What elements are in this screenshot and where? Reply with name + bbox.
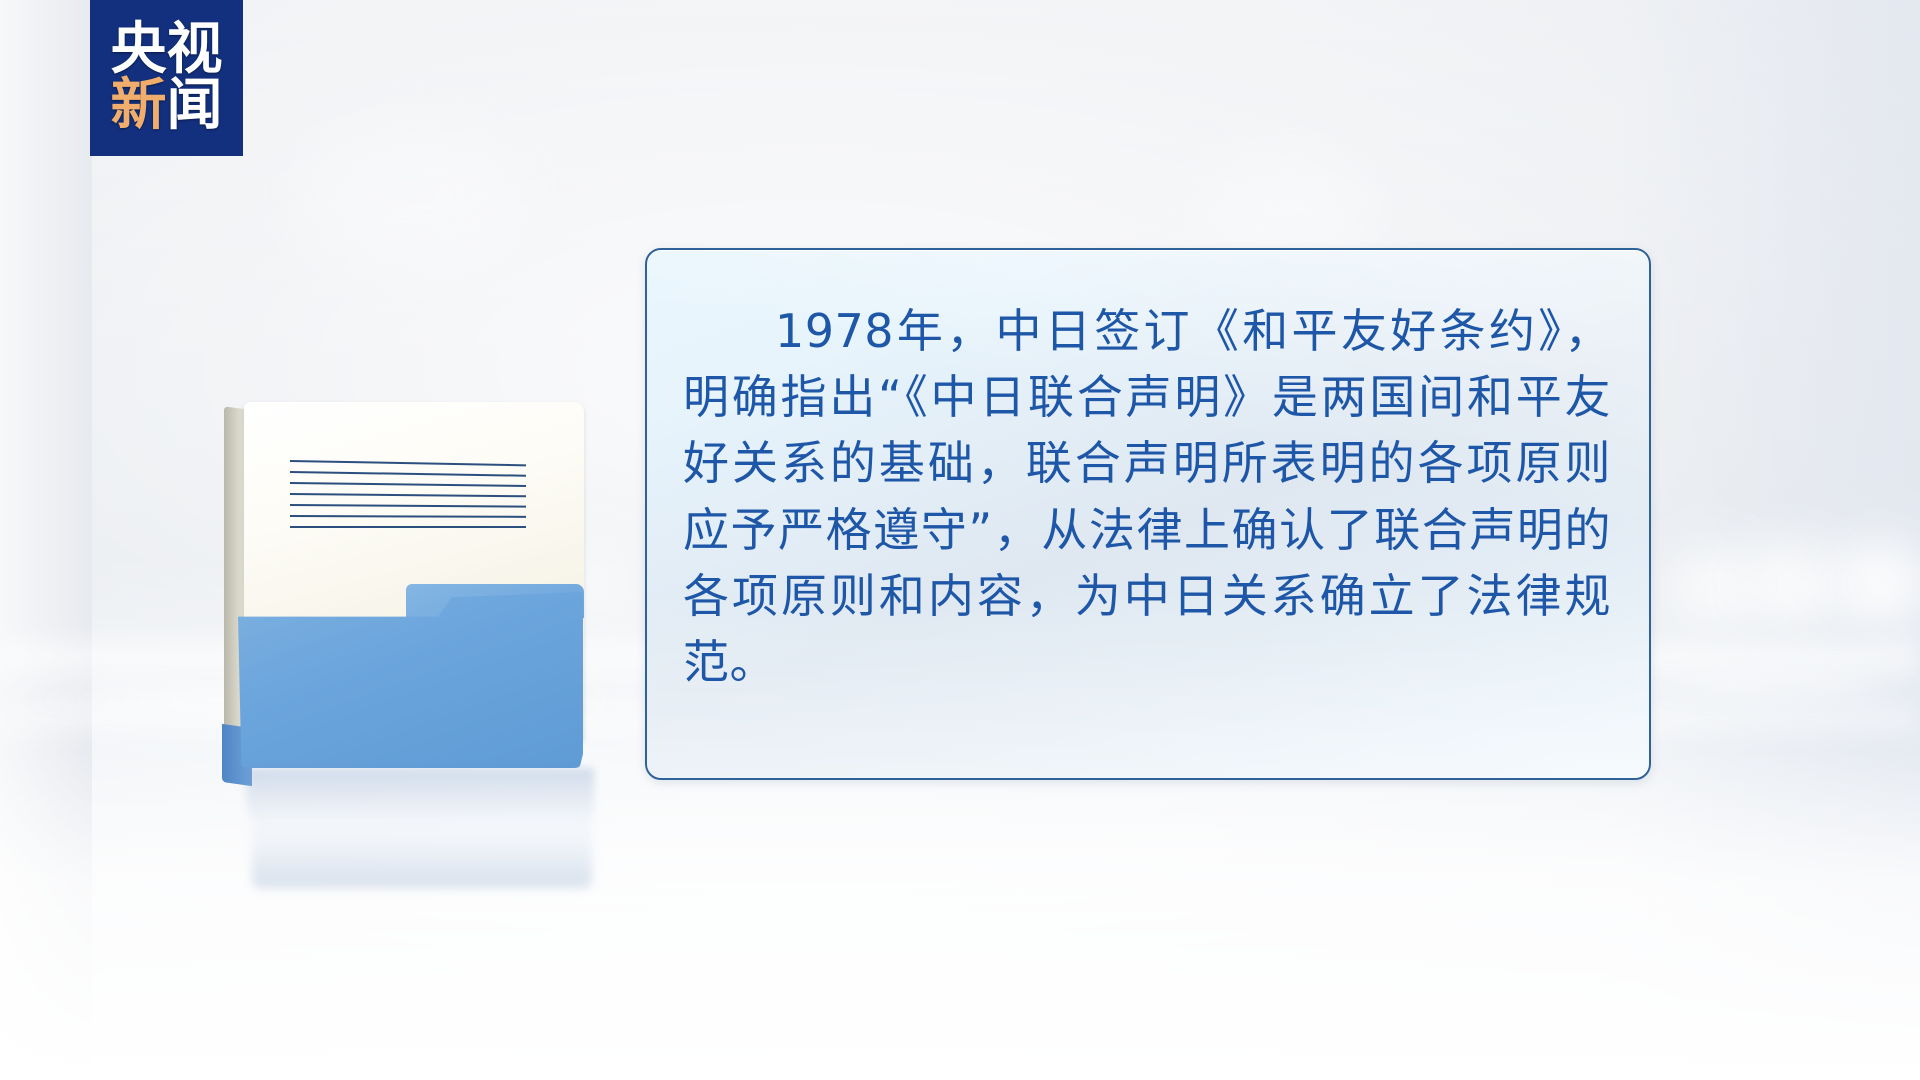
broadcast-stage: 央 视 新 闻 1	[0, 0, 1920, 1080]
folder-pocket	[238, 592, 583, 768]
logo-char-shi: 视	[167, 22, 223, 78]
rule-line	[290, 504, 526, 508]
cctv-news-logo: 央 视 新 闻	[90, 0, 243, 156]
caption-body: 1978年，中日签订《和平友好条约》，明确指出“《中日联合声明》是两国间和平友好…	[647, 250, 1649, 695]
caption-card: 1978年，中日签订《和平友好条约》，明确指出“《中日联合声明》是两国间和平友好…	[645, 248, 1651, 780]
bokeh-light	[1832, 540, 1920, 626]
rule-line	[290, 482, 526, 487]
folder-reflection-fade	[252, 768, 592, 888]
logo-char-wen: 闻	[167, 78, 223, 134]
rule-line	[290, 471, 526, 477]
caption-paragraph: 1978年，中日签订《和平友好条约》，明确指出“《中日联合声明》是两国间和平友好…	[683, 298, 1611, 695]
logo-char-yang: 央	[111, 22, 167, 78]
rule-line	[290, 493, 526, 497]
rule-line	[290, 515, 526, 518]
logo-line-top: 央 视	[111, 22, 223, 78]
document-rule-lines	[290, 460, 526, 537]
logo-line-bottom: 新 闻	[111, 78, 223, 134]
bokeh-light	[300, 120, 520, 270]
document-folder-icon	[216, 396, 616, 816]
rule-line	[290, 460, 526, 466]
logo-char-xin: 新	[111, 78, 167, 134]
background-light-streak	[1640, 676, 1920, 694]
bokeh-light	[1668, 548, 1754, 626]
rule-line	[290, 526, 526, 528]
bokeh-light	[1744, 542, 1836, 626]
